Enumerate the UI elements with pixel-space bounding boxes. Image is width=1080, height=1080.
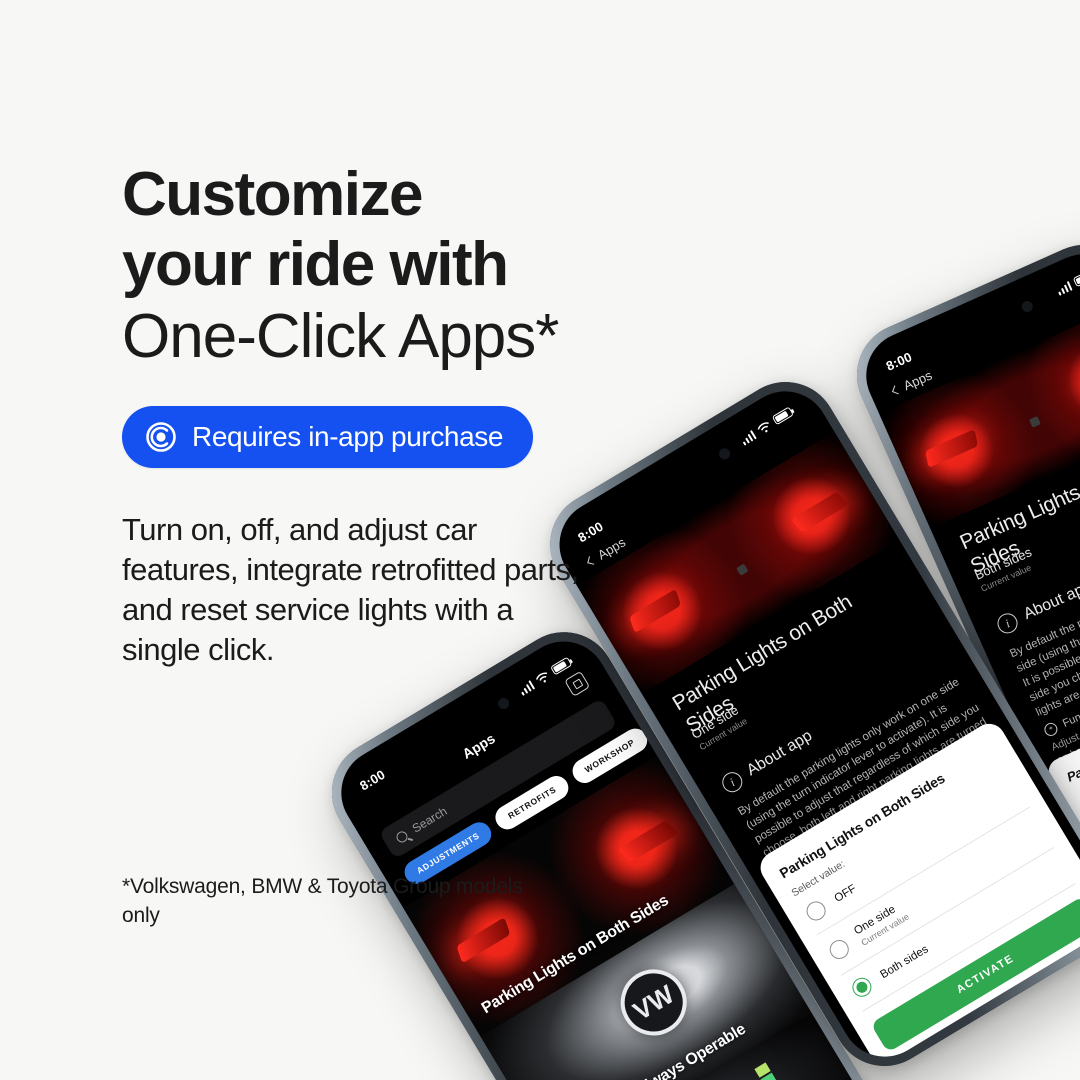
page-title: Customize your ride with One-Click Apps* — [122, 160, 722, 374]
signal-icon — [738, 429, 756, 446]
headline-line-1: Customize — [122, 160, 722, 230]
signal-icon — [517, 679, 535, 696]
headline-line-2: your ride with — [122, 230, 722, 300]
signal-icon — [1055, 280, 1073, 296]
status-time: 8:00 — [357, 766, 388, 793]
radio-icon[interactable] — [826, 936, 852, 962]
in-app-purchase-badge[interactable]: Requires in-app purchase — [122, 406, 533, 468]
copy-block: Customize your ride with One-Click Apps*… — [122, 160, 722, 670]
status-time: 8:00 — [883, 349, 914, 374]
option-label: Both sides — [878, 943, 930, 981]
radio-icon[interactable] — [803, 898, 829, 924]
license-plate — [1029, 415, 1041, 427]
battery-icon — [772, 406, 794, 425]
status-icons — [1055, 269, 1080, 295]
search-placeholder: Search — [410, 804, 450, 836]
body-paragraph: Turn on, off, and adjust car features, i… — [122, 510, 592, 670]
search-icon — [394, 829, 409, 844]
badge-label: Requires in-app purchase — [192, 421, 503, 453]
radio-icon-selected[interactable] — [849, 974, 875, 1000]
option-label: OFF — [832, 882, 858, 904]
chevron-left-icon — [892, 385, 901, 394]
gear-icon: * — [1042, 721, 1059, 738]
info-icon: i — [994, 610, 1020, 636]
headline-line-3: One-Click Apps* — [122, 300, 722, 374]
battery-icon — [1073, 270, 1080, 287]
wifi-icon — [534, 669, 552, 686]
color-swatches-icon — [754, 1063, 814, 1080]
footnote: *Volkswagen, BMW & Toyota Group models o… — [122, 872, 542, 930]
status-icons — [738, 406, 794, 446]
wifi-icon — [755, 419, 773, 436]
vw-logo-icon: VW — [608, 957, 699, 1048]
about-app-label: About app — [1021, 578, 1080, 624]
info-icon: i — [719, 768, 746, 795]
promo-canvas: Customize your ride with One-Click Apps*… — [0, 0, 1080, 1080]
coin-icon — [144, 420, 178, 454]
license-plate — [736, 563, 748, 575]
